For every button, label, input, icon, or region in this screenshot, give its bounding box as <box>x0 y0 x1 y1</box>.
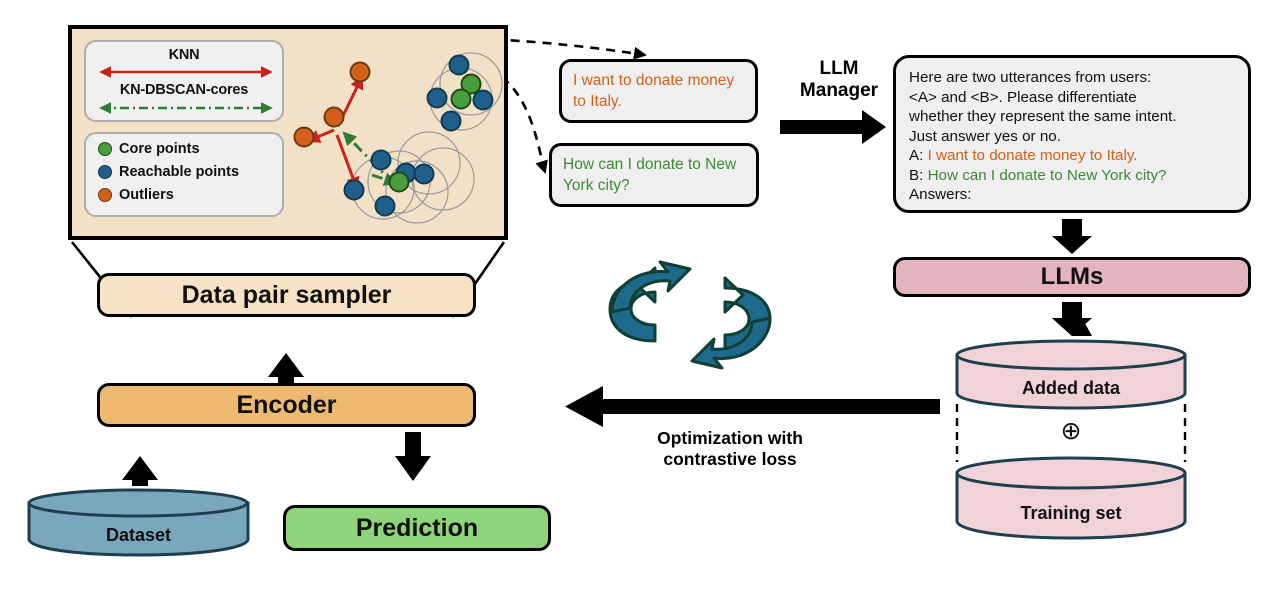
prompt-line-a: A: I want to donate money to Italy. <box>909 146 1235 166</box>
legend-label-reachable: Reachable points <box>119 164 239 180</box>
utterance-bubble-a: I want to donate money to Italy. <box>559 59 758 123</box>
point-type-legend-card: Core points Reachable points Outliers <box>84 132 284 217</box>
encoder-to-sampler-arrow <box>268 353 304 383</box>
training-set-label: Training set <box>955 503 1187 524</box>
llm-manager-line2: Manager <box>786 80 892 102</box>
dataset-cylinder: Dataset <box>27 487 250 559</box>
dbscan-label: KN-DBSCAN-cores <box>86 82 282 98</box>
diagram-canvas: KNN KN-DBSCAN-cores Core points Reachabl… <box>0 0 1262 592</box>
legend-item-outliers: Outliers <box>98 187 174 203</box>
prompt-line-b: B: How can I donate to New York city? <box>909 166 1235 186</box>
encoder-node: Encoder <box>97 383 476 427</box>
prompt-line-1: Here are two utterances from users: <box>909 68 1235 88</box>
optimization-line-1: Optimization with <box>614 428 846 449</box>
prediction-node: Prediction <box>283 505 551 551</box>
knn-edges <box>308 77 362 189</box>
data-pair-sampler-panel: KNN KN-DBSCAN-cores Core points Reachabl… <box>68 25 508 240</box>
prompt-answers-label: Answers: <box>909 185 1235 205</box>
optimization-arrow <box>565 386 940 427</box>
llms-node: LLMs <box>893 257 1251 297</box>
legend-label-core: Core points <box>119 141 200 157</box>
outlier-points <box>295 63 370 147</box>
combine-plus-icon: ⊕ <box>1055 415 1087 447</box>
prompt-label-a: A: <box>909 147 923 164</box>
llm-manager-label: LLM Manager <box>786 58 892 103</box>
prompt-line-3: whether they represent the same intent. <box>909 107 1235 127</box>
knn-label: KNN <box>86 47 282 63</box>
prompt-text-a: I want to donate money to Italy. <box>928 147 1138 164</box>
prompt-label-b: B: <box>909 167 923 184</box>
added-data-label: Added data <box>955 378 1187 399</box>
prompt-line-2: <A> and <B>. Please differentiate <box>909 88 1235 108</box>
prompt-to-llms-arrow <box>1052 219 1092 254</box>
prompt-line-4: Just answer yes or no. <box>909 127 1235 147</box>
added-data-cylinder: Added data <box>955 338 1187 410</box>
core-point-swatch-icon <box>98 142 112 156</box>
outlier-point-swatch-icon <box>98 188 112 202</box>
optimization-line-2: contrastive loss <box>614 449 846 470</box>
encoder-to-prediction-arrow <box>395 432 431 481</box>
dataset-cylinder-shape <box>27 487 250 559</box>
legend-item-reachable: Reachable points <box>98 164 239 180</box>
reachable-point-swatch-icon <box>98 165 112 179</box>
legend-item-core: Core points <box>98 141 200 157</box>
dataset-to-encoder-arrow <box>122 456 158 486</box>
training-set-cylinder-shape <box>955 455 1187 541</box>
legend-label-outliers: Outliers <box>119 187 174 203</box>
training-set-cylinder: Training set <box>955 455 1187 541</box>
dbscan-double-arrow <box>95 102 277 114</box>
prompt-text-b: How can I donate to New York city? <box>928 167 1167 184</box>
optimization-caption: Optimization with contrastive loss <box>614 428 846 470</box>
utterance-bubble-b: How can I donate to New York city? <box>549 143 759 207</box>
added-data-cylinder-shape <box>955 338 1187 410</box>
llm-prompt-box: Here are two utterances from users: <A> … <box>893 55 1251 213</box>
llm-manager-line1: LLM <box>786 58 892 80</box>
dataset-label: Dataset <box>27 525 250 546</box>
llms-to-added-arrow <box>1052 302 1092 336</box>
llm-manager-arrow <box>780 110 886 144</box>
cycle-arrows-fill <box>612 262 770 368</box>
knn-legend-card: KNN KN-DBSCAN-cores <box>84 40 284 122</box>
data-pair-sampler-node: Data pair sampler <box>97 273 476 317</box>
knn-double-arrow <box>95 66 277 78</box>
